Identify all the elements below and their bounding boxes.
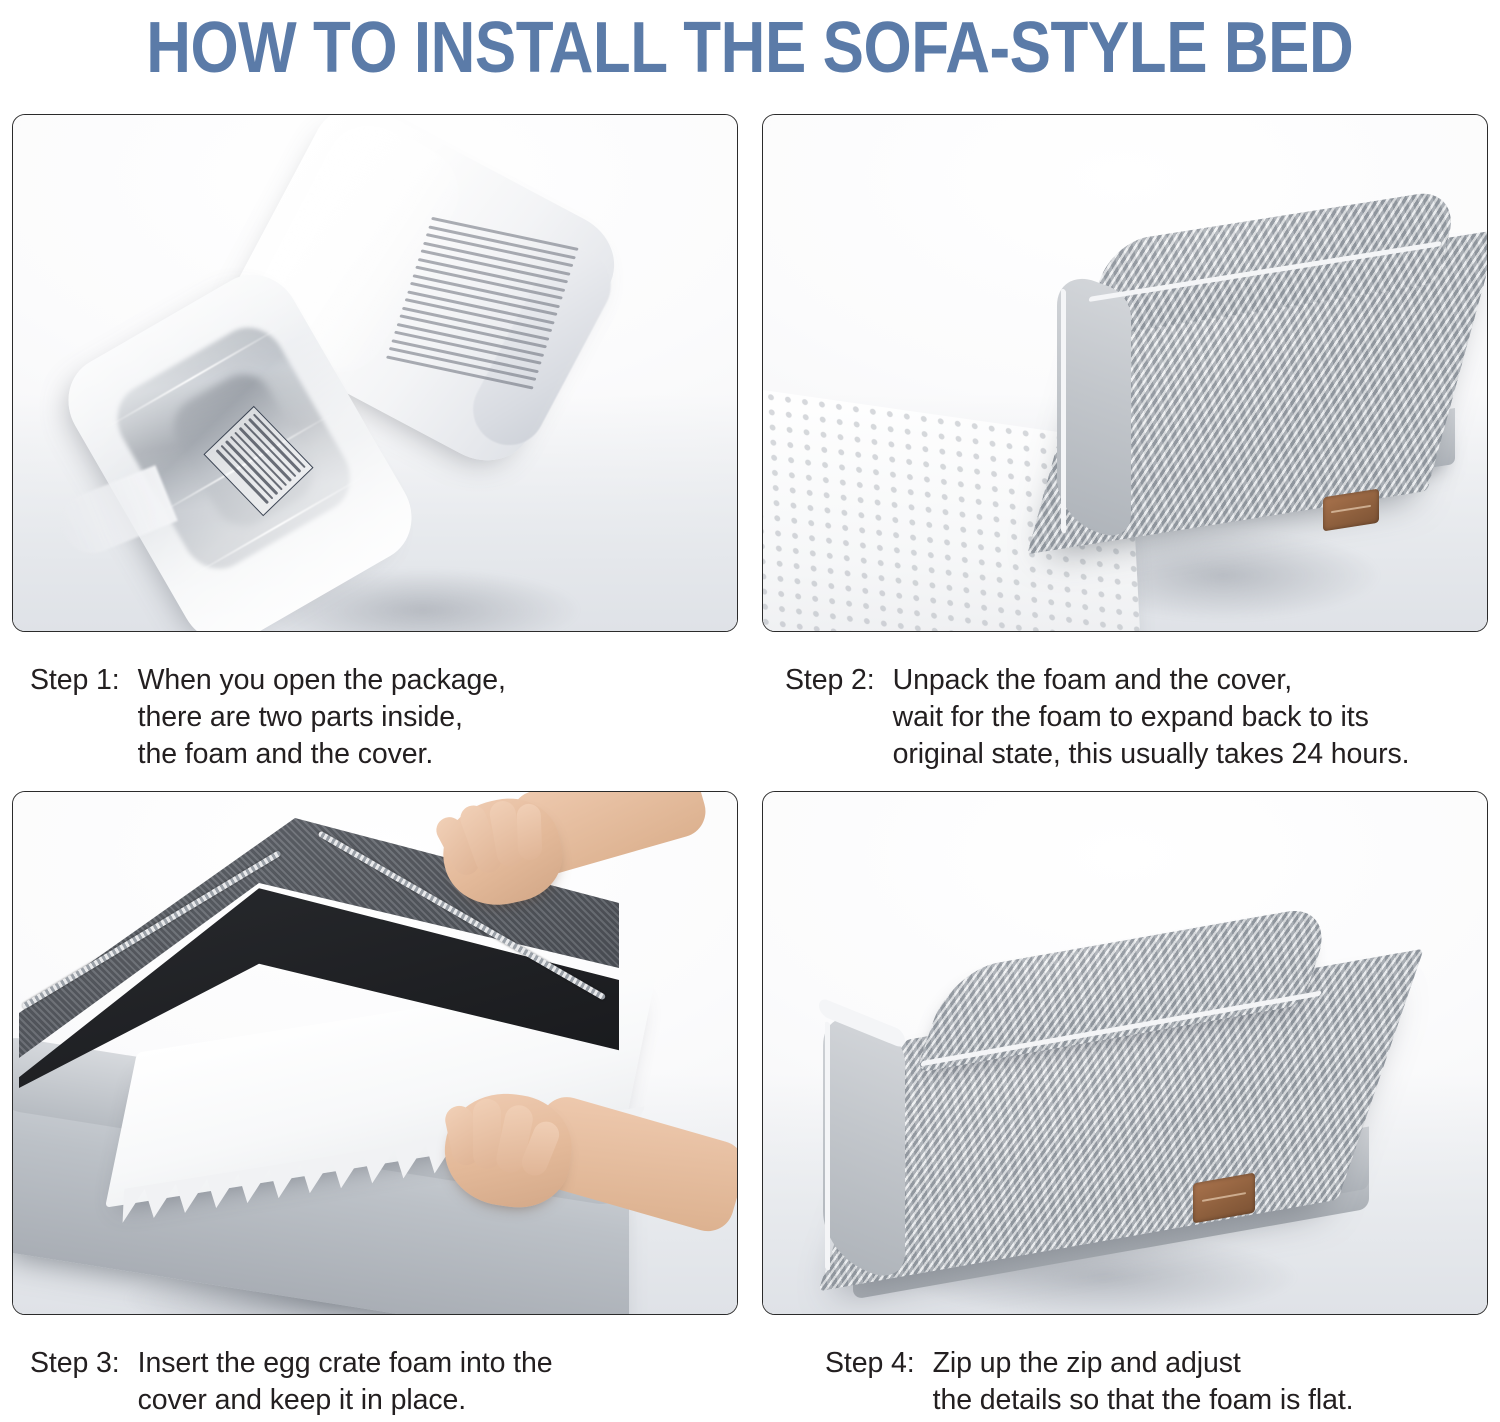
packaged-rolls-photo [13,115,737,631]
steps-grid: Step 1: When you open the package, there… [0,96,1500,1419]
step-2-caption: Step 2: Unpack the foam and the cover, w… [750,632,1500,773]
zipper-teeth-left [21,850,281,1010]
step-3-line-2: cover and keep it in place. [138,1382,553,1419]
bed-side-bolster [823,1003,905,1286]
step-2-text: Unpack the foam and the cover, wait for … [893,662,1410,773]
step-2-photo [762,114,1488,632]
step-1-text: When you open the package, there are two… [138,662,506,773]
finished-bed-photo [763,792,1487,1314]
steps-row-bottom: Step 3: Insert the egg crate foam into t… [0,773,1500,1419]
step-1-caption: Step 1: When you open the package, there… [0,632,750,773]
inserting-foam-photo [13,792,737,1314]
step-3-label: Step 3: [30,1345,138,1419]
step-4-line-1: Zip up the zip and adjust [933,1345,1354,1382]
steps-row-top: Step 1: When you open the package, there… [0,96,1500,773]
step-4-label: Step 4: [825,1345,933,1419]
step-4-caption: Step 4: Zip up the zip and adjust the de… [750,1315,1500,1419]
finger [516,803,542,860]
step-3-line-1: Insert the egg crate foam into the [138,1345,553,1382]
step-3-caption: Step 3: Insert the egg crate foam into t… [0,1315,750,1419]
step-4-line-2: the details so that the foam is flat. [933,1382,1354,1419]
step-2-line-1: Unpack the foam and the cover, [893,662,1410,699]
step-2-label: Step 2: [785,662,893,773]
step-3-cell: Step 3: Insert the egg crate foam into t… [0,773,750,1419]
step-2-line-2: wait for the foam to expand back to its [893,699,1410,736]
step-1-line-2: there are two parts inside, [138,699,506,736]
assembled-sofa-bed [817,910,1417,1270]
step-4-cell: Step 4: Zip up the zip and adjust the de… [750,773,1500,1419]
cover-side-bolster [1057,268,1131,545]
header: HOW TO INSTALL THE SOFA-STYLE BED [0,0,1500,96]
brand-tag [1323,489,1379,532]
page-title: HOW TO INSTALL THE SOFA-STYLE BED [146,12,1353,84]
foam-and-cover-photo [763,115,1487,631]
step-2-cell: Step 2: Unpack the foam and the cover, w… [750,96,1500,773]
step-2-line-3: original state, this usually takes 24 ho… [893,736,1410,773]
step-3-photo [12,791,738,1315]
step-4-photo [762,791,1488,1315]
step-1-line-3: the foam and the cover. [138,736,506,773]
hand-inserting-foam [438,1086,578,1214]
step-1-cell: Step 1: When you open the package, there… [0,96,750,773]
bed-cover-empty [1063,203,1463,563]
step-1-line-1: When you open the package, [138,662,506,699]
step-1-label: Step 1: [30,662,138,773]
step-4-text: Zip up the zip and adjust the details so… [933,1345,1354,1419]
white-piping-side [825,1021,830,1271]
step-1-photo [12,114,738,632]
white-piping-side [1061,288,1066,534]
step-3-text: Insert the egg crate foam into the cover… [138,1345,553,1419]
